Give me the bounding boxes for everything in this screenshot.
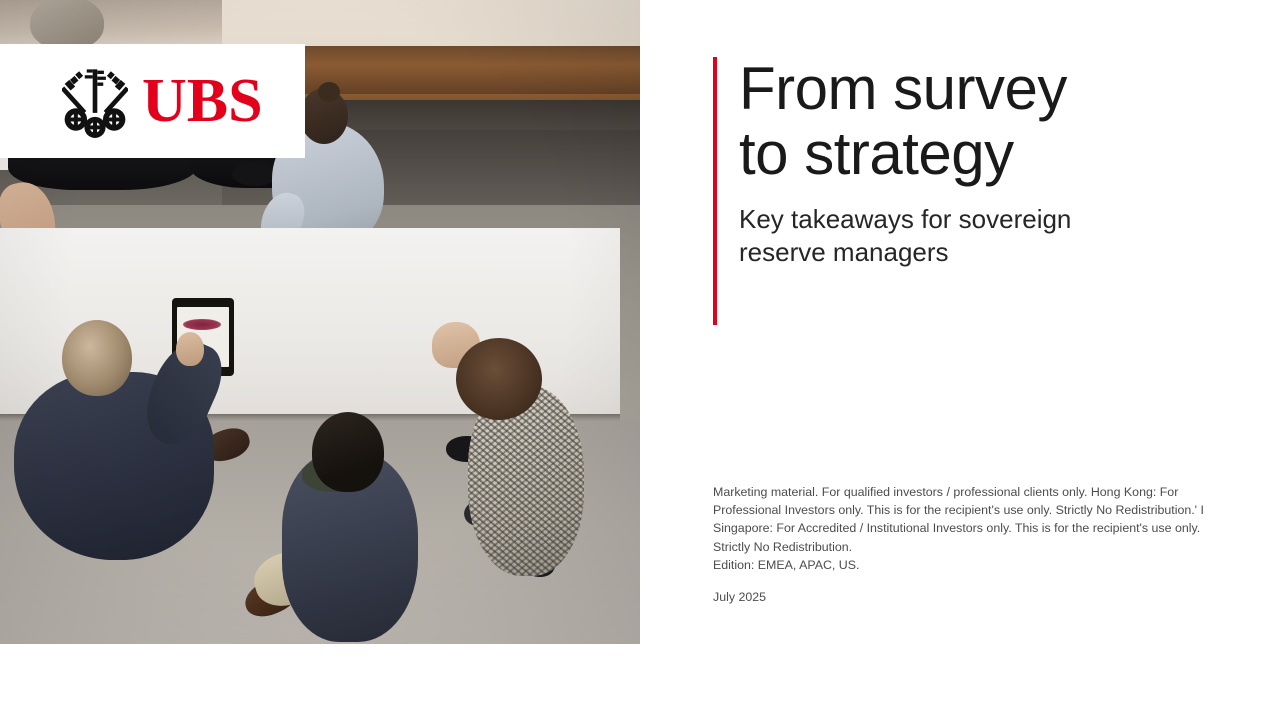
cover-slide: UBS From survey to strategy Key takeaway… (0, 0, 1280, 720)
cover-text-column: From survey to strategy Key takeaways fo… (713, 0, 1280, 720)
disclaimer-edition: Edition: EMEA, APAC, US. (713, 556, 1225, 574)
photo-person-left-head (62, 320, 132, 396)
disclaimer-block: Marketing material. For qualified invest… (713, 483, 1225, 606)
photo-person-standing-hair-bun (318, 82, 340, 102)
ubs-logo-panel: UBS (0, 44, 305, 158)
photo-person-right-hair (456, 338, 542, 420)
photo-person-top-left-head (30, 0, 104, 50)
page-subtitle: Key takeaways for sovereign reserve mana… (739, 203, 1071, 270)
photo-person-left-hand (176, 332, 204, 366)
disclaimer-date: July 2025 (713, 588, 1225, 606)
ubs-wordmark: UBS (142, 70, 263, 132)
disclaimer-body: Marketing material. For qualified invest… (713, 483, 1225, 556)
title-block: From survey to strategy Key takeaways fo… (713, 57, 1071, 269)
photo-person-center-head (312, 412, 384, 492)
page-title: From survey to strategy (739, 57, 1071, 187)
red-accent-bar (713, 57, 717, 325)
ubs-three-keys-icon (62, 64, 128, 138)
photo-person-standing-shoe (232, 162, 276, 186)
